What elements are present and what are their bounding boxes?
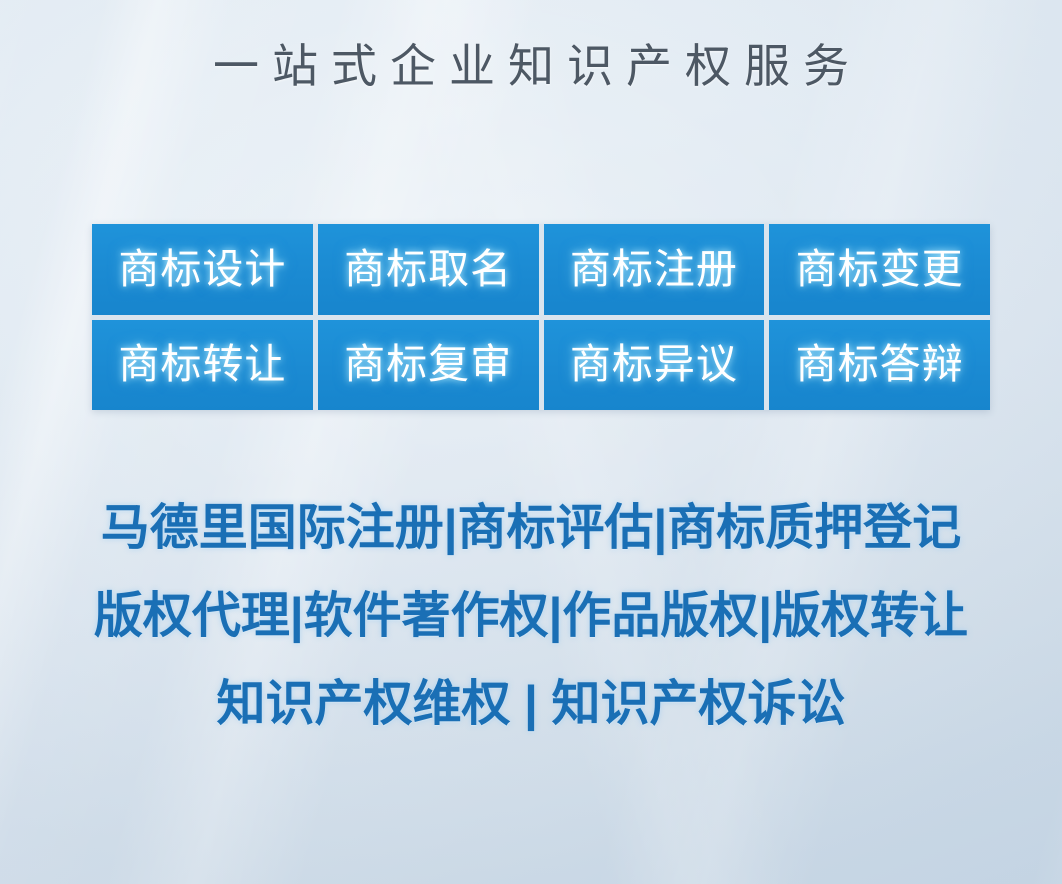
service-cell-trademark-defense[interactable]: 商标答辩 <box>769 320 990 411</box>
page-title: 一站式企业知识产权服务 <box>0 38 1062 94</box>
keyword-line-2: 版权代理|软件著作权|作品版权|版权转让 <box>0 572 1062 660</box>
keyword-line-1: 马德里国际注册|商标评估|商标质押登记 <box>0 484 1062 572</box>
service-cell-trademark-opposition[interactable]: 商标异议 <box>544 320 765 411</box>
service-cell-trademark-naming[interactable]: 商标取名 <box>318 224 539 315</box>
poster-content: 一站式企业知识产权服务 商标设计 商标取名 商标注册 商标变更 商标转让 商标复… <box>0 0 1062 884</box>
service-cell-trademark-review[interactable]: 商标复审 <box>318 320 539 411</box>
service-cell-trademark-registration[interactable]: 商标注册 <box>544 224 765 315</box>
service-grid: 商标设计 商标取名 商标注册 商标变更 商标转让 商标复审 商标异议 商标答辩 <box>92 224 990 410</box>
service-cell-trademark-design[interactable]: 商标设计 <box>92 224 313 315</box>
keyword-line-list: 马德里国际注册|商标评估|商标质押登记 版权代理|软件著作权|作品版权|版权转让… <box>0 484 1062 748</box>
service-cell-trademark-change[interactable]: 商标变更 <box>769 224 990 315</box>
promo-poster: 一站式企业知识产权服务 商标设计 商标取名 商标注册 商标变更 商标转让 商标复… <box>0 0 1062 884</box>
keyword-line-3: 知识产权维权 | 知识产权诉讼 <box>0 660 1062 748</box>
service-cell-trademark-transfer[interactable]: 商标转让 <box>92 320 313 411</box>
